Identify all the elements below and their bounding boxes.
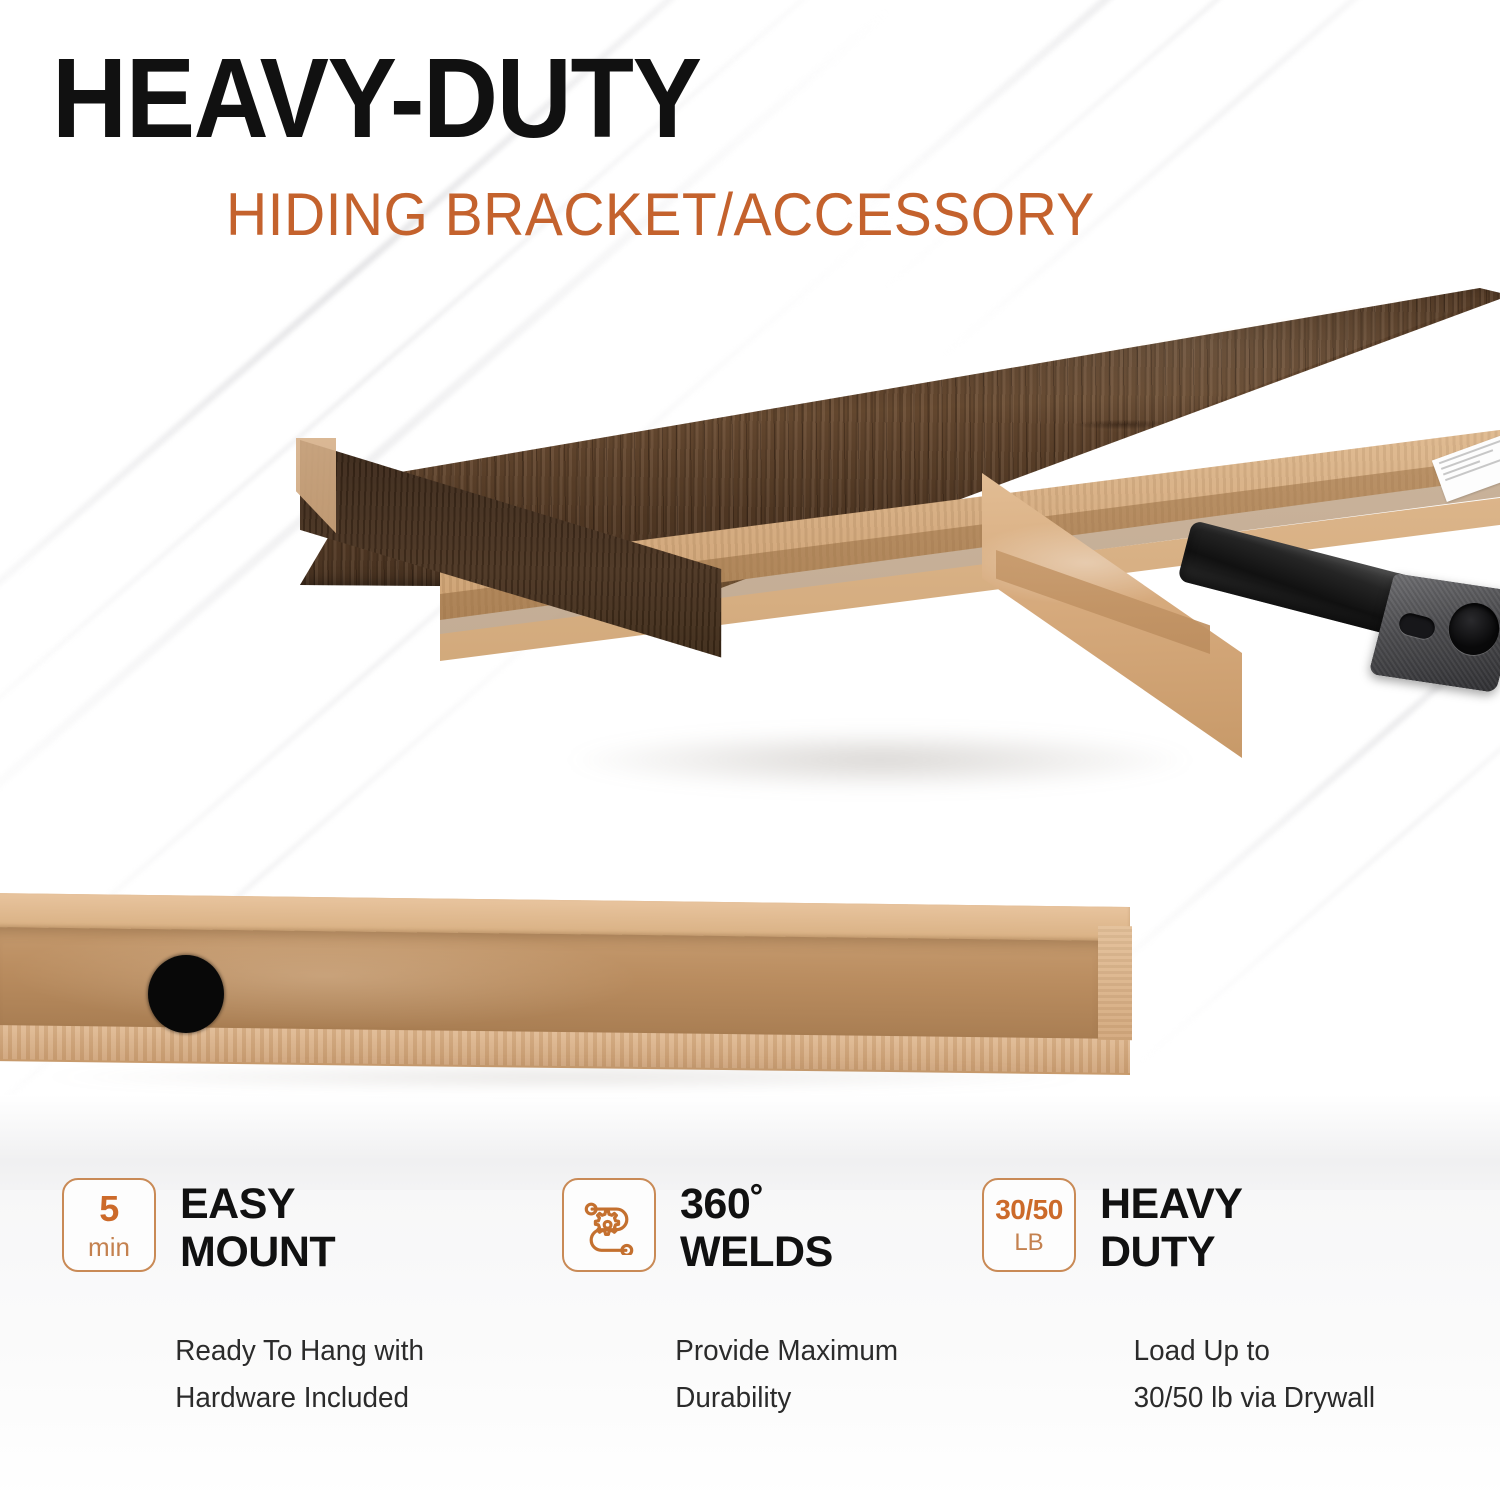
weld-path-gear-icon — [562, 1178, 656, 1272]
feature-header: 30/50 LB HEAVY DUTY — [982, 1178, 1460, 1276]
page-title: HEAVY-DUTY — [52, 42, 701, 155]
badge-unit: LB — [1014, 1231, 1043, 1255]
hidden-wall-bracket — [1185, 515, 1500, 740]
weight-capacity-badge-icon: 30/50 LB — [982, 1178, 1076, 1272]
feature-header: 360˚ WELDS — [562, 1178, 960, 1276]
badge-value: 5 — [99, 1191, 119, 1227]
cutaway-end-cap — [1098, 926, 1132, 1040]
badge-value: 30/50 — [995, 1196, 1063, 1224]
weld-path-gear-glyph — [579, 1195, 639, 1255]
hero-product-photo — [0, 260, 1500, 870]
bracket-rod-hole — [148, 955, 224, 1033]
feature-description: Provide Maximum Durability — [562, 1328, 944, 1421]
feature-list: 5 min EASY MOUNT Ready To Hang with Hard… — [0, 1178, 1500, 1458]
feature-easy-mount: 5 min EASY MOUNT Ready To Hang with Hard… — [0, 1178, 500, 1458]
feature-heavy-duty: 30/50 LB HEAVY DUTY Load Up to 30/50 lb … — [960, 1178, 1460, 1458]
timer-badge-icon: 5 min — [62, 1178, 156, 1272]
page-subtitle: HIDING BRACKET/ACCESSORY — [226, 185, 1095, 245]
shelf-drop-shadow — [570, 730, 1190, 790]
cutaway-drop-shadow — [30, 1064, 1100, 1090]
feature-title: HEAVY DUTY — [1100, 1178, 1242, 1276]
badge-unit: min — [88, 1234, 130, 1260]
feature-title: 360˚ WELDS — [680, 1178, 833, 1276]
feature-description: Load Up to 30/50 lb via Drywall — [982, 1328, 1441, 1421]
feature-header: 5 min EASY MOUNT — [62, 1178, 500, 1276]
feature-description: Ready To Hang with Hardware Included — [62, 1328, 482, 1421]
feature-title: EASY MOUNT — [180, 1178, 335, 1276]
feature-360-welds: 360˚ WELDS Provide Maximum Durability — [500, 1178, 960, 1458]
